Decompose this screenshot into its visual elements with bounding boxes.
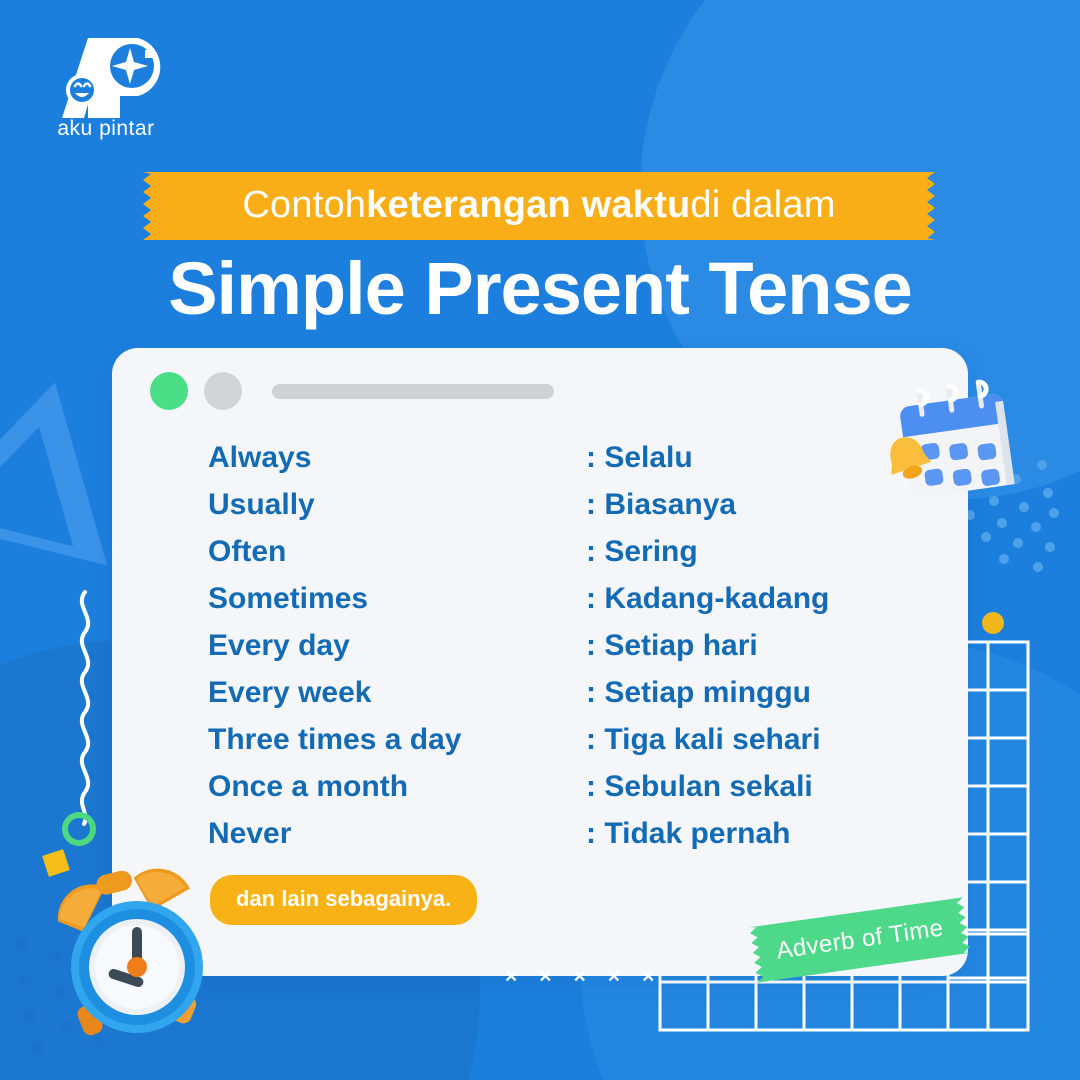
yellow-dot-icon (982, 612, 1004, 634)
term-label: Often (208, 535, 586, 569)
translation-label: : Tidak pernah (586, 817, 791, 851)
wavy-line-icon (70, 588, 100, 828)
translation-label: : Selalu (586, 441, 693, 475)
x-mark-icon: × (539, 966, 551, 987)
list-item: Never : Tidak pernah (208, 810, 928, 857)
alarm-clock-icon (42, 845, 232, 1050)
list-item: Often : Sering (208, 528, 928, 575)
green-ring-icon (62, 812, 96, 846)
translation-label: : Setiap hari (586, 629, 758, 663)
term-label: Sometimes (208, 582, 586, 616)
term-label: Once a month (208, 770, 586, 804)
term-label: Every week (208, 676, 586, 710)
svg-text:aku pintar: aku pintar (57, 117, 154, 140)
window-dot-green-icon[interactable] (150, 372, 188, 410)
translation-label: : Kadang-kadang (586, 582, 829, 616)
headline-banner: Contoh keterangan waktu di dalam (133, 172, 945, 240)
list-item: Usually : Biasanya (208, 481, 928, 528)
list-item: Sometimes : Kadang-kadang (208, 575, 928, 622)
term-label: Usually (208, 488, 586, 522)
banner-highlight: keterangan waktu (366, 184, 690, 227)
address-bar[interactable] (272, 384, 554, 399)
x-mark-icon: × (642, 966, 654, 987)
x-mark-icon: × (608, 966, 620, 987)
calendar-bell-icon (880, 378, 1030, 507)
term-label: Three times a day (208, 723, 586, 757)
list-item: Three times a day : Tiga kali sehari (208, 716, 928, 763)
term-label: Always (208, 441, 586, 475)
banner-prefix: Contoh (242, 184, 366, 227)
list-item: Every day : Setiap hari (208, 622, 928, 669)
banner-text: Contoh keterangan waktu di dalam (133, 172, 945, 240)
list-item: Always : Selalu (208, 434, 928, 481)
x-marks-decoration: × × × × × (505, 966, 654, 987)
aku-pintar-logo-icon: aku pintar (42, 32, 170, 140)
translation-label: : Sering (586, 535, 698, 569)
banner-suffix: di dalam (690, 184, 835, 227)
x-mark-icon: × (505, 966, 517, 987)
translation-label: : Tiga kali sehari (586, 723, 821, 757)
translation-label: : Setiap minggu (586, 676, 811, 710)
list-item: Once a month : Sebulan sekali (208, 763, 928, 810)
term-label: Every day (208, 629, 586, 663)
adverb-list: Always : Selalu Usually : Biasanya Often… (208, 434, 928, 857)
x-mark-icon: × (574, 966, 586, 987)
footnote-badge: dan lain sebagainya. (210, 875, 477, 925)
translation-label: : Sebulan sekali (586, 770, 813, 804)
window-dot-gray-icon[interactable] (204, 372, 242, 410)
list-item: Every week : Setiap minggu (208, 669, 928, 716)
brand-logo[interactable]: aku pintar (42, 32, 170, 145)
term-label: Never (208, 817, 586, 851)
translation-label: : Biasanya (586, 488, 736, 522)
window-chrome-bar (150, 372, 554, 410)
page-title: Simple Present Tense (0, 246, 1080, 331)
